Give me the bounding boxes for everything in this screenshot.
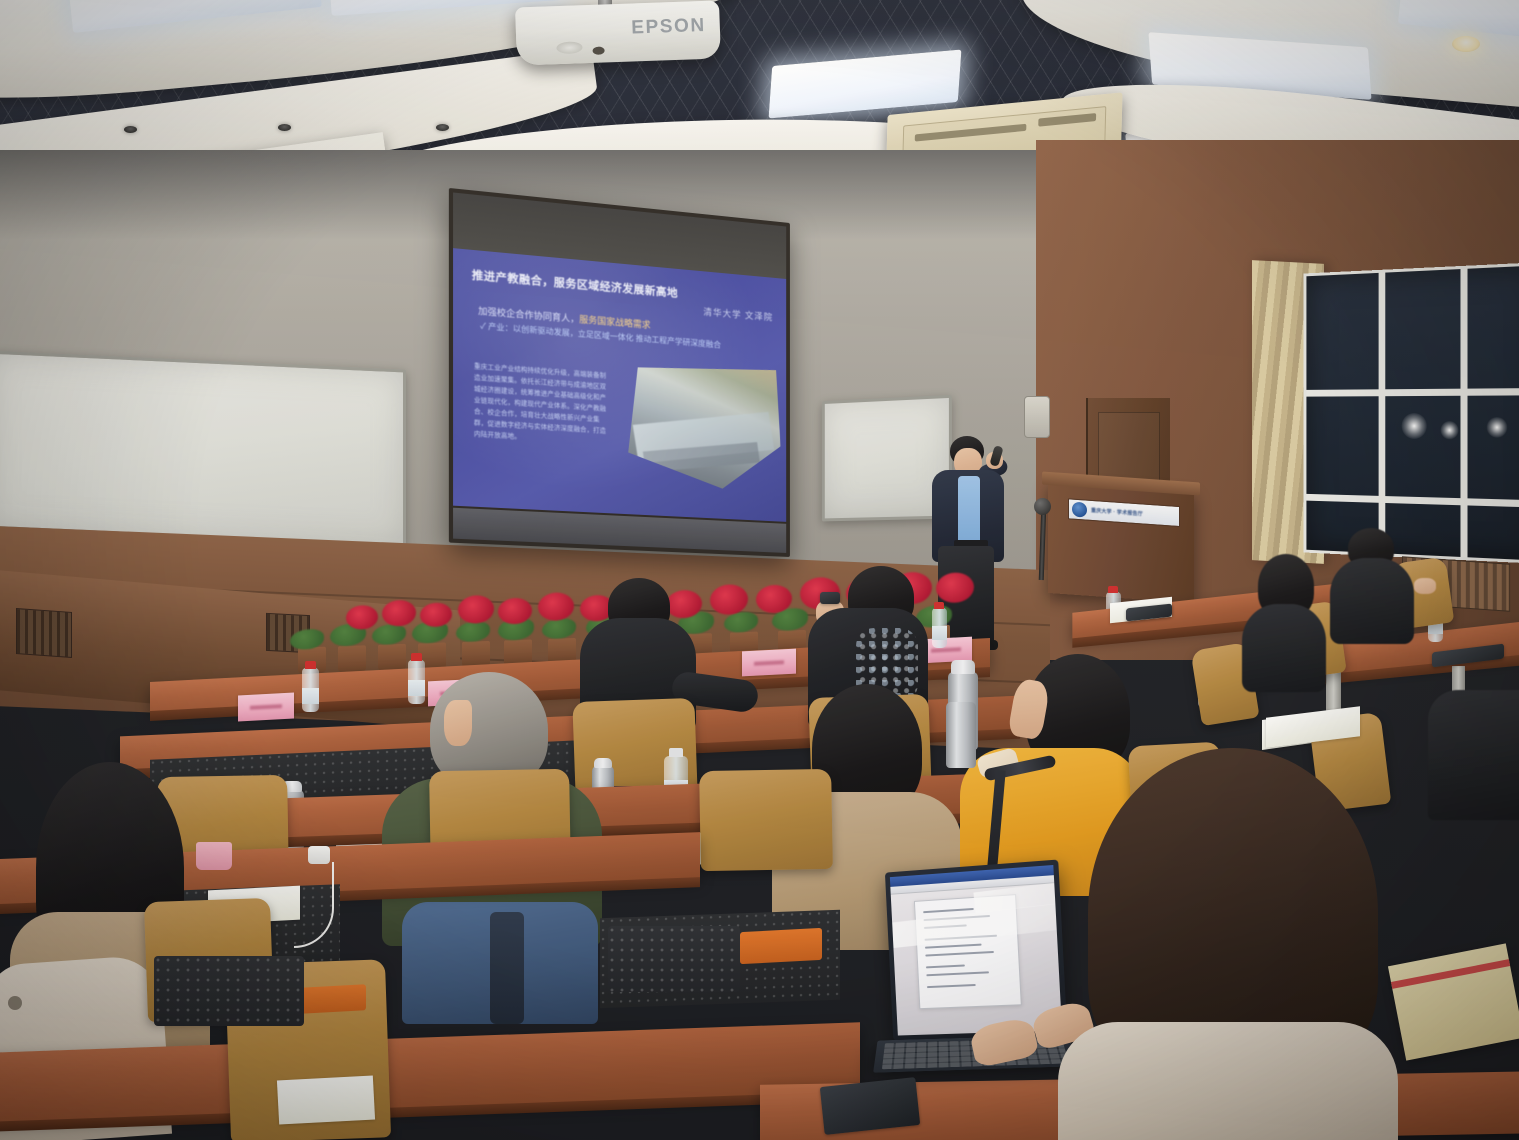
thermos-flask (946, 702, 976, 768)
wall-speaker-icon (1024, 396, 1050, 438)
slide-body-text: 重庆工业产业结构持续优化升级，高端装备制造业加速聚集。依托长江经济带与成渝地区双… (474, 361, 608, 448)
projection-screen: 推进产教融合，服务区域经济发展新高地 清华大学 文泽院 加强校企合作协同育人，服… (449, 188, 790, 557)
recessed-downlight-icon (1452, 36, 1480, 52)
window-wall (1304, 262, 1519, 564)
wall-vent-grille-icon (16, 608, 72, 658)
chair-mesh-back (154, 956, 304, 1026)
torso (1330, 558, 1414, 644)
window-light-reflection (1441, 421, 1459, 439)
name-placard (238, 693, 294, 722)
recessed-downlight-icon (436, 124, 449, 131)
chair-back[interactable] (699, 769, 833, 871)
projector-brand-label: EPSON (631, 15, 706, 40)
backpack-strap (490, 912, 524, 1024)
name-placard (742, 649, 796, 677)
podium: 重庆大学 · 学术报告厅 (1048, 481, 1194, 603)
jacket-button-icon (8, 996, 22, 1010)
chair-seat[interactable] (740, 928, 822, 964)
microphone-head-icon (1034, 498, 1051, 515)
chair-mesh-back (608, 926, 740, 992)
paper-handout (277, 1076, 375, 1125)
water-bottle (408, 660, 425, 704)
pink-cup (196, 842, 232, 870)
window-light-reflection (1487, 417, 1508, 438)
smartphone-on-desk[interactable] (820, 1077, 920, 1135)
yellow-notepad (1388, 943, 1519, 1060)
smartphone-camera-icon[interactable] (820, 592, 840, 604)
recessed-downlight-icon (124, 126, 137, 133)
torso (1242, 604, 1326, 692)
projected-slide: 推进产教融合，服务区域经济发展新高地 清华大学 文泽院 加强校企合作协同育人，服… (453, 248, 786, 522)
university-seal-icon (1072, 502, 1087, 518)
whiteboard-left (0, 350, 406, 547)
conference-room-photo: EPSON 推进产教融合，服务区域经济发展新高地 清华大学 文泽院 加强校企合作… (0, 0, 1519, 1140)
beige-top (1058, 1022, 1398, 1140)
ear (444, 700, 472, 746)
laptop-display (890, 865, 1062, 1036)
window-light-reflection (1402, 413, 1427, 439)
presenter-shirt (958, 476, 980, 546)
torso (1428, 690, 1519, 820)
projector-lens-icon (556, 41, 582, 54)
chair-seat[interactable] (300, 984, 366, 1013)
recessed-downlight-icon (278, 124, 291, 131)
water-bottle (302, 668, 319, 712)
hand (1414, 578, 1436, 594)
podium-plaque: 重庆大学 · 学术报告厅 (1068, 498, 1180, 527)
water-bottle (932, 608, 947, 648)
epson-projector: EPSON (515, 0, 721, 65)
podium-plaque-text: 重庆大学 · 学术报告厅 (1091, 507, 1143, 518)
